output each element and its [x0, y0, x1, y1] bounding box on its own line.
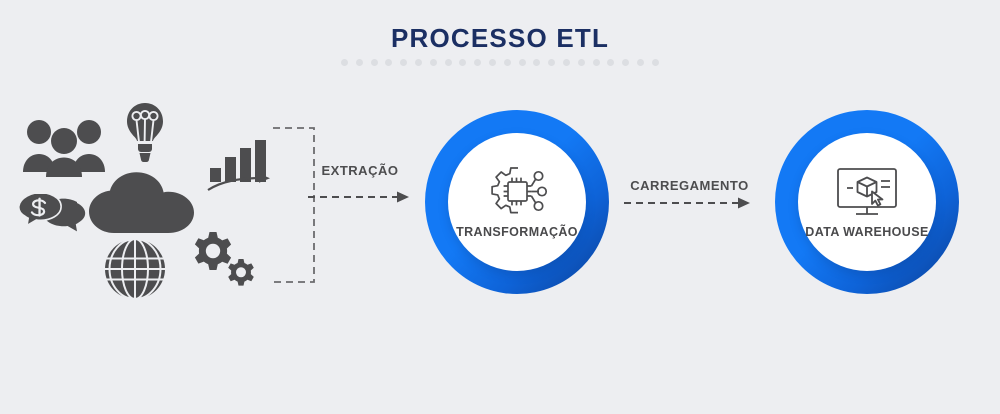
divider-dot	[578, 59, 585, 66]
divider-dot	[652, 59, 659, 66]
divider-dot	[593, 59, 600, 66]
gears-icon	[192, 230, 256, 293]
node-data-warehouse[interactable]: DATA WAREHOUSE	[775, 110, 959, 294]
money-chat-icon	[14, 194, 90, 251]
node-transformation[interactable]: TRANSFORMAÇÃO	[425, 110, 609, 294]
divider-dot	[356, 59, 363, 66]
divider-dot	[489, 59, 496, 66]
page-title: PROCESSO ETL	[0, 22, 1000, 54]
cloud-icon	[88, 172, 200, 239]
divider-dot	[445, 59, 452, 66]
divider-dot	[430, 59, 437, 66]
divider-dot	[385, 59, 392, 66]
divider-dot	[563, 59, 570, 66]
divider-dot	[533, 59, 540, 66]
divider-dot	[400, 59, 407, 66]
extraction-bracket	[272, 126, 318, 284]
loading-arrow-icon	[624, 196, 754, 210]
divider-dot	[341, 59, 348, 66]
etl-diagram: PROCESSO ETL	[0, 0, 1000, 414]
node-label-transformation: TRANSFORMAÇÃO	[456, 225, 578, 239]
title-dot-divider	[341, 56, 659, 68]
divider-dot	[607, 59, 614, 66]
divider-dot	[474, 59, 481, 66]
divider-dot	[371, 59, 378, 66]
divider-dot	[459, 59, 466, 66]
divider-dot	[622, 59, 629, 66]
divider-dot	[519, 59, 526, 66]
loading-label: CARREGAMENTO	[622, 178, 757, 193]
divider-dot	[637, 59, 644, 66]
node-label-data-warehouse: DATA WAREHOUSE	[805, 225, 928, 239]
node-inner-circle: TRANSFORMAÇÃO	[448, 133, 586, 271]
extraction-label: EXTRAÇÃO	[305, 163, 415, 178]
data-sources-cluster	[0, 90, 290, 310]
extraction-arrow-icon	[308, 190, 413, 204]
monitor-cube-cursor-icon	[836, 165, 898, 221]
node-inner-circle: DATA WAREHOUSE	[798, 133, 936, 271]
lightbulb-icon	[122, 102, 168, 169]
globe-icon	[104, 238, 166, 305]
divider-dot	[504, 59, 511, 66]
bar-chart-growth-icon	[206, 138, 274, 199]
divider-dot	[548, 59, 555, 66]
gear-chip-circuit-icon	[486, 165, 548, 221]
divider-dot	[415, 59, 422, 66]
